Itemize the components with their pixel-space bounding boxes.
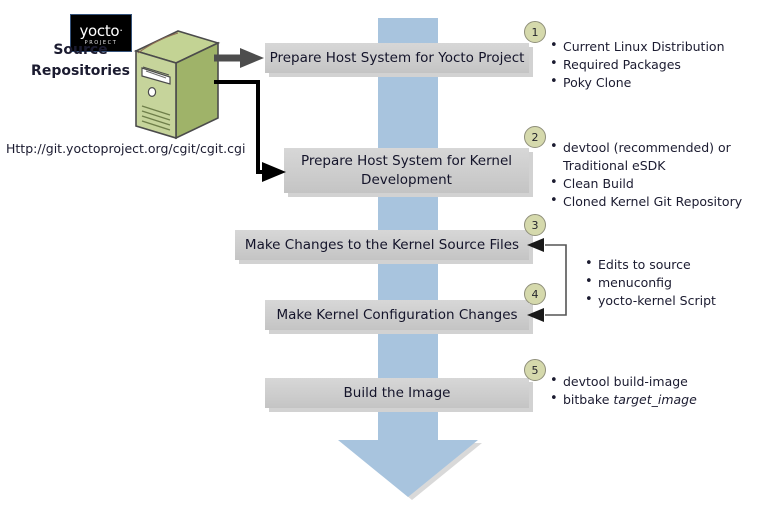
step-3-badge: 3	[524, 214, 546, 236]
step-1-bullets: Current Linux Distribution Required Pack…	[550, 38, 765, 92]
step-5-badge: 5	[524, 359, 546, 381]
list-item: menuconfig	[585, 274, 765, 292]
step-1-number: 1	[532, 26, 539, 39]
list-item: devtool (recommended) or Traditional eSD…	[550, 139, 765, 175]
list-item: Required Packages	[550, 56, 765, 74]
list-item: Edits to source	[585, 256, 765, 274]
step-3-number: 3	[532, 219, 539, 232]
list-item: Cloned Kernel Git Repository	[550, 193, 765, 211]
step-1-badge: 1	[524, 21, 546, 43]
list-item: Current Linux Distribution	[550, 38, 765, 56]
list-item: yocto-kernel Script	[585, 292, 765, 310]
steps-3-4-bullets: Edits to source menuconfig yocto-kernel …	[585, 256, 765, 310]
diagram-canvas: yocto· PROJECT Source Repositories Http:…	[0, 0, 769, 517]
step-2-badge: 2	[524, 126, 546, 148]
list-item: devtool build-image	[550, 373, 765, 391]
list-item: bitbake target_image	[550, 391, 765, 409]
step-4-number: 4	[532, 288, 539, 301]
step-4-badge: 4	[524, 283, 546, 305]
step-2-number: 2	[532, 131, 539, 144]
bitbake-target-placeholder: target_image	[613, 392, 696, 407]
list-item: Poky Clone	[550, 74, 765, 92]
bitbake-command-prefix: bitbake	[563, 392, 613, 407]
list-item: Clean Build	[550, 175, 765, 193]
step-5-bullets: devtool build-image bitbake target_image	[550, 373, 765, 409]
step-5-number: 5	[532, 364, 539, 377]
step-2-bullets: devtool (recommended) or Traditional eSD…	[550, 139, 765, 211]
